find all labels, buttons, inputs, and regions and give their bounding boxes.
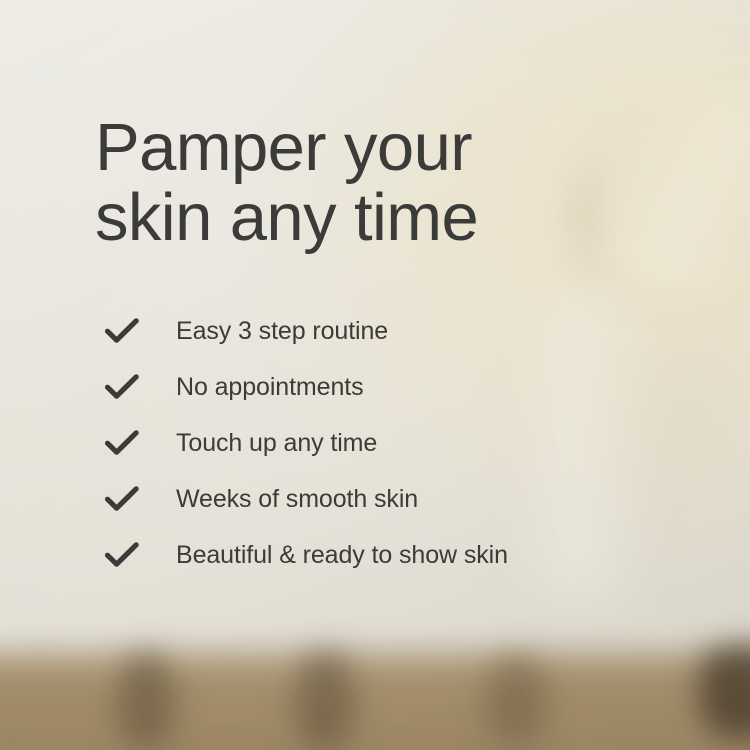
check-icon (105, 316, 143, 346)
list-item-label: Easy 3 step routine (176, 316, 388, 346)
check-icon (105, 428, 143, 458)
list-item-label: Weeks of smooth skin (176, 484, 418, 514)
check-icon (105, 540, 143, 570)
list-item: Easy 3 step routine (105, 303, 508, 359)
list-item-label: Beautiful & ready to show skin (176, 540, 508, 570)
list-item: Beautiful & ready to show skin (105, 527, 508, 583)
headline: Pamper your skin any time (95, 113, 478, 253)
check-icon (105, 372, 143, 402)
list-item: Touch up any time (105, 415, 508, 471)
list-item: No appointments (105, 359, 508, 415)
promo-content: Pamper your skin any time Easy 3 step ro… (0, 0, 750, 750)
list-item-label: No appointments (176, 372, 364, 402)
list-item: Weeks of smooth skin (105, 471, 508, 527)
benefits-list: Easy 3 step routine No appointments Touc… (105, 303, 508, 583)
promo-graphic: Pamper your skin any time Easy 3 step ro… (0, 0, 750, 750)
check-icon (105, 484, 143, 514)
list-item-label: Touch up any time (176, 428, 377, 458)
